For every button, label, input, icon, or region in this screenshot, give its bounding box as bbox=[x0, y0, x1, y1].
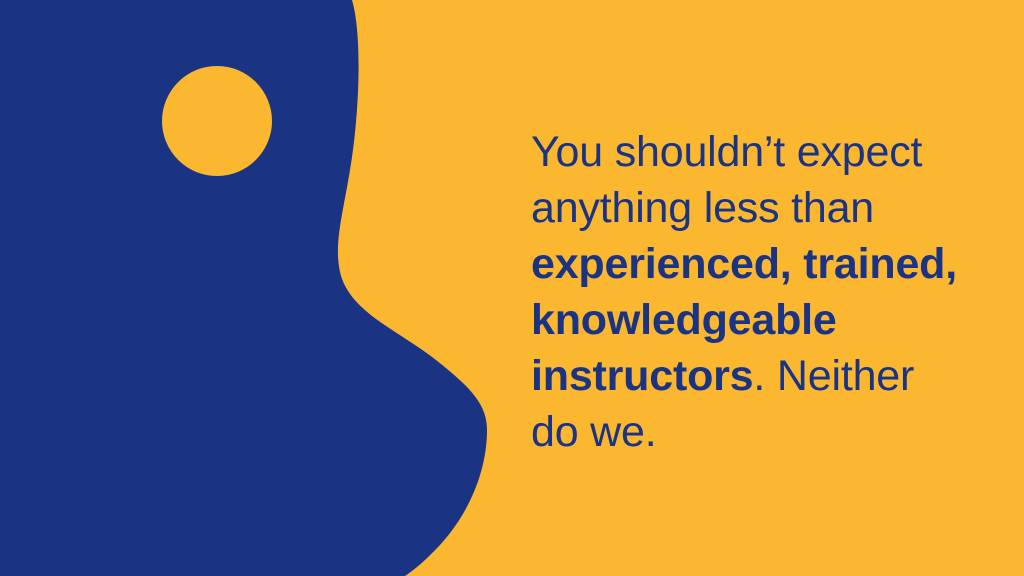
quote-line: do we. bbox=[531, 404, 971, 460]
quote-regular-text: . Neither bbox=[753, 352, 914, 400]
quote-text-block: You shouldn’t expectanything less thanex… bbox=[531, 124, 971, 460]
quote-regular-text: do we. bbox=[531, 408, 657, 456]
quote-emphasis-text: instructors bbox=[531, 352, 753, 400]
quote-line: You shouldn’t expect bbox=[531, 124, 971, 180]
quote-emphasis-text: experienced, trained, bbox=[531, 240, 957, 288]
quote-line: knowledgeable bbox=[531, 292, 971, 348]
quote-line: anything less than bbox=[531, 180, 971, 236]
quote-line: experienced, trained, bbox=[531, 236, 971, 292]
quote-regular-text: anything less than bbox=[531, 184, 874, 232]
quote-line: instructors. Neither bbox=[531, 348, 971, 404]
slide-canvas: You shouldn’t expectanything less thanex… bbox=[0, 0, 1024, 576]
quote-regular-text: You shouldn’t expect bbox=[531, 128, 922, 176]
quote-emphasis-text: knowledgeable bbox=[531, 296, 837, 344]
